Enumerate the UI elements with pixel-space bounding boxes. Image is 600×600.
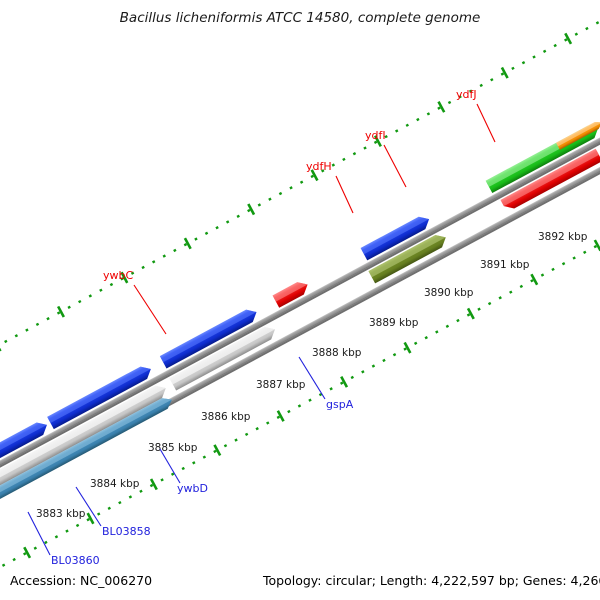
- gene-annotation-ywbD[interactable]: ywbD: [160, 449, 208, 495]
- genome-summary-text: Topology: circular; Length: 4,222,597 bp…: [262, 573, 600, 588]
- gene-annotation-BL03858[interactable]: BL03858: [76, 487, 151, 538]
- genome-backbone[interactable]: [0, 91, 600, 527]
- ruler-tick-label: 3883 kbp: [36, 508, 86, 520]
- gene-label[interactable]: ydfJ: [456, 88, 477, 101]
- ruler-tick-label: 3889 kbp: [369, 317, 419, 329]
- gene-label[interactable]: ywbC: [103, 269, 133, 282]
- ruler-tick-label: 3886 kbp: [201, 411, 251, 423]
- gene-annotation-ydfI[interactable]: ydfI: [365, 129, 406, 187]
- leader-line: [299, 357, 325, 399]
- gene-label[interactable]: ydfH: [306, 160, 332, 173]
- leader-line: [384, 145, 406, 187]
- gene-annotations[interactable]: ywbC ydfH ydfI ydfJ gspA ywbD BL03858: [28, 88, 495, 567]
- gene-label[interactable]: BL03860: [51, 554, 100, 567]
- ruler-tick-label: 3885 kbp: [148, 442, 198, 454]
- gene-label[interactable]: BL03858: [102, 525, 151, 538]
- leader-line: [160, 449, 180, 483]
- gene-label[interactable]: ywbD: [177, 482, 208, 495]
- ruler-tick-label: 3892 kbp: [538, 231, 588, 243]
- leader-line: [477, 104, 495, 142]
- genome-map-canvas[interactable]: Bacillus licheniformis ATCC 14580, compl…: [0, 0, 600, 600]
- accession-text: Accession: NC_006270: [10, 573, 152, 588]
- genome-map-viewport[interactable]: Bacillus licheniformis ATCC 14580, compl…: [0, 0, 600, 600]
- ruler-tick-label: 3891 kbp: [480, 259, 530, 271]
- ruler-tick-label: 3888 kbp: [312, 347, 362, 359]
- gene-annotation-ydfJ[interactable]: ydfJ: [456, 88, 495, 142]
- ruler-tick-label: 3887 kbp: [256, 379, 306, 391]
- ruler-tick-label: 3884 kbp: [90, 478, 140, 490]
- gene-label[interactable]: gspA: [326, 398, 354, 411]
- leader-line: [134, 285, 166, 334]
- gene-label[interactable]: ydfI: [365, 129, 386, 142]
- gene-annotation-ywbC[interactable]: ywbC: [103, 269, 166, 334]
- gene-annotation-ydfH[interactable]: ydfH: [306, 160, 353, 213]
- status-bar: Accession: NC_006270 Topology: circular;…: [10, 573, 600, 588]
- page-title: Bacillus licheniformis ATCC 14580, compl…: [120, 10, 481, 26]
- leader-line: [336, 176, 353, 213]
- ruler-tick-label: 3890 kbp: [424, 287, 474, 299]
